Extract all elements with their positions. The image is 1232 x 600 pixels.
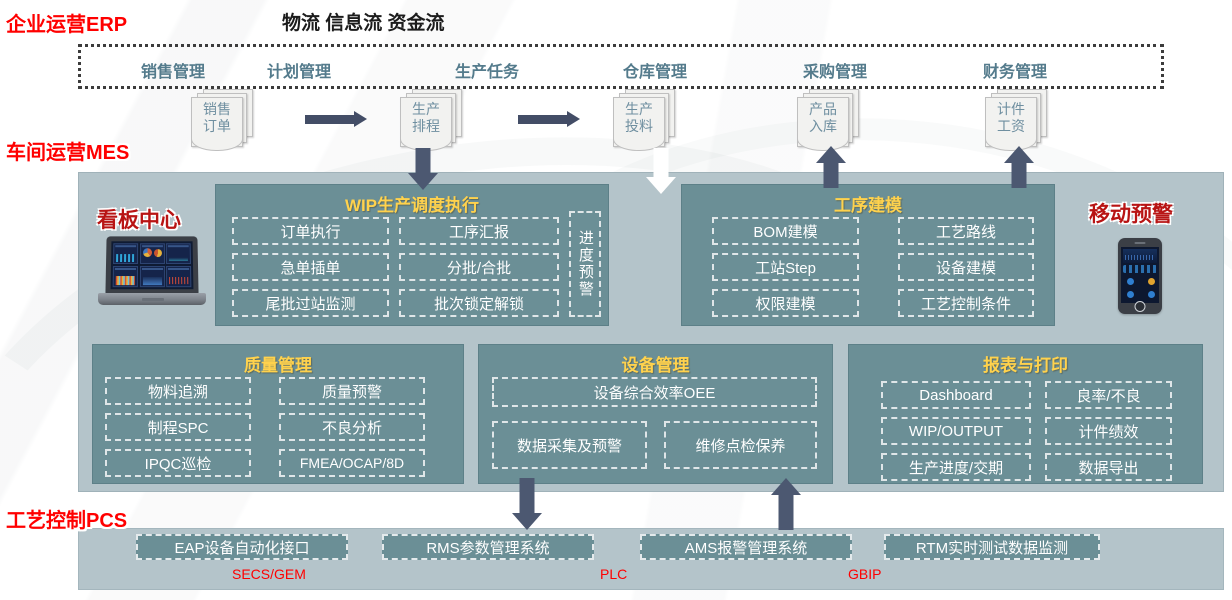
chip-wip-output[interactable]: WIP/OUTPUT	[881, 417, 1031, 445]
panel-reports-and-printing: 报表与打印 Dashboard WIP/OUTPUT 生产进度/交期 良率/不良…	[848, 344, 1203, 484]
pcs-system-eap[interactable]: EAP设备自动化接口	[136, 534, 348, 560]
doc-label: 产品入库	[797, 101, 849, 135]
document-production-schedule[interactable]: 生产排程	[400, 89, 462, 151]
chip-process-spc[interactable]: 制程SPC	[105, 413, 251, 441]
connector-mes-to-wage	[1004, 146, 1034, 188]
chip-piece-rate-performance[interactable]: 计件绩效	[1045, 417, 1172, 445]
panel-title: WIP生产调度执行	[216, 191, 608, 216]
document-material-issue[interactable]: 生产投料	[613, 89, 675, 151]
arrow-head	[816, 146, 846, 163]
chip-dashboard[interactable]: Dashboard	[881, 381, 1031, 409]
flow-arrow-sales-to-plan	[305, 113, 367, 125]
chip-oee[interactable]: 设备综合效率OEE	[492, 377, 817, 407]
kanban-center-caption: 看板中心	[97, 204, 181, 234]
doc-label: 销售订单	[191, 101, 243, 135]
dashboard-widget-pies	[140, 243, 165, 264]
dashboard-widget-trend	[166, 243, 191, 264]
section-label-erp: 企业运营ERP	[6, 8, 127, 37]
panel-quality-management: 质量管理 物料追溯 制程SPC IPQC巡检 质量预警 不良分析 FMEA/OC…	[92, 344, 464, 484]
panel-equipment-management: 设备管理 设备综合效率OEE 数据采集及预警 维修点检保养	[478, 344, 833, 484]
arrow-shaft	[779, 495, 794, 530]
phone-widget-header	[1123, 249, 1157, 263]
chip-fmea-ocap-8d[interactable]: FMEA/OCAP/8D	[279, 449, 425, 477]
panel-title: 工序建模	[682, 191, 1054, 216]
pcs-system-rtm[interactable]: RTM实时测试数据监测	[884, 534, 1100, 560]
arrow-head	[512, 513, 542, 530]
arrow-head	[1004, 146, 1034, 163]
doc-curl	[191, 139, 243, 151]
laptop-dashboard-illustration	[98, 236, 206, 310]
doc-label: 生产投料	[613, 101, 665, 135]
chip-tail-lot-monitor[interactable]: 尾批过站监测	[232, 289, 389, 317]
chip-production-progress-delivery[interactable]: 生产进度/交期	[881, 453, 1031, 481]
erp-module-sales[interactable]: 销售管理	[118, 58, 228, 82]
panel-title: 质量管理	[93, 351, 463, 376]
phone-body	[1118, 238, 1162, 314]
erp-module-purchasing[interactable]: 采购管理	[780, 58, 890, 82]
pcs-protocol-secs-gem: SECS/GEM	[232, 566, 306, 582]
arrow-head	[567, 111, 580, 127]
section-label-mes: 车间运营MES	[6, 136, 129, 165]
arrow-shaft	[518, 115, 568, 124]
chip-order-execution[interactable]: 订单执行	[232, 217, 389, 245]
pcs-system-ams[interactable]: AMS报警管理系统	[640, 534, 852, 560]
phone-speaker	[1135, 242, 1146, 244]
chip-equipment-modeling[interactable]: 设备建模	[898, 253, 1034, 281]
flow-arrow-plan-to-task	[518, 113, 580, 125]
document-product-receipt[interactable]: 产品入库	[797, 89, 859, 151]
arrow-shaft	[824, 163, 839, 188]
erp-mes-pcs-architecture-diagram: 企业运营ERP 车间运营MES 工艺控制PCS 物流 信息流 资金流 销售管理 …	[0, 0, 1232, 600]
panel-process-modeling: 工序建模 BOM建模 工站Step 权限建模 工艺路线 设备建模 工艺控制条件	[681, 184, 1055, 326]
erp-module-warehouse[interactable]: 仓库管理	[600, 58, 710, 82]
mobile-alert-caption: 移动预警	[1089, 198, 1173, 228]
arrow-head	[354, 111, 367, 127]
connector-material-to-mes	[646, 148, 676, 194]
chip-quality-alert[interactable]: 质量预警	[279, 377, 425, 405]
chip-process-control-conditions[interactable]: 工艺控制条件	[898, 289, 1034, 317]
arrow-shaft	[520, 478, 535, 513]
chip-progress-alert[interactable]: 进度预警	[569, 211, 601, 317]
connector-pcs-to-mes	[771, 478, 801, 530]
chip-permission-modeling[interactable]: 权限建模	[712, 289, 859, 317]
dashboard-widget-colorbars	[113, 266, 138, 287]
doc-label: 生产排程	[400, 101, 452, 135]
smartphone-illustration	[1118, 238, 1162, 314]
arrow-head	[771, 478, 801, 495]
chip-data-export[interactable]: 数据导出	[1045, 453, 1172, 481]
flow-title: 物流 信息流 资金流	[282, 8, 445, 35]
chip-data-collection-alert[interactable]: 数据采集及预警	[492, 421, 647, 469]
dashboard-widget-area	[139, 266, 164, 287]
document-sales-order[interactable]: 销售订单	[191, 89, 253, 151]
chip-defect-analysis[interactable]: 不良分析	[279, 413, 425, 441]
chip-operation-report[interactable]: 工序汇报	[399, 217, 559, 245]
chip-maintenance-inspection[interactable]: 维修点检保养	[664, 421, 817, 469]
erp-module-finance[interactable]: 财务管理	[960, 58, 1070, 82]
pcs-protocol-plc: PLC	[600, 566, 627, 582]
chip-bom-modeling[interactable]: BOM建模	[712, 217, 859, 245]
chip-process-route[interactable]: 工艺路线	[898, 217, 1034, 245]
chip-workstation-step[interactable]: 工站Step	[712, 253, 859, 281]
chip-lot-lock-unlock[interactable]: 批次锁定解锁	[399, 289, 559, 317]
doc-label: 计件工资	[985, 101, 1037, 135]
dashboard-widget-gauges	[113, 243, 138, 264]
arrow-shaft	[416, 148, 431, 173]
laptop-trackpad	[142, 298, 164, 301]
pcs-system-rms[interactable]: RMS参数管理系统	[382, 534, 594, 560]
section-label-pcs: 工艺控制PCS	[6, 504, 127, 533]
erp-module-production-task[interactable]: 生产任务	[432, 58, 542, 82]
laptop-lid	[105, 236, 198, 294]
dashboard-widget-alerts	[166, 266, 191, 287]
panel-title: 报表与打印	[849, 351, 1202, 376]
document-piece-rate-wage[interactable]: 计件工资	[985, 89, 1047, 151]
phone-widget-dots	[1124, 276, 1156, 301]
connector-mes-to-pcs	[512, 478, 542, 530]
chip-ipqc-inspection[interactable]: IPQC巡检	[105, 449, 251, 477]
arrow-shaft	[654, 148, 669, 177]
phone-screen	[1121, 247, 1159, 303]
arrow-head	[408, 173, 438, 190]
pcs-protocol-gbip: GBIP	[848, 566, 881, 582]
chip-rush-order-insert[interactable]: 急单插单	[232, 253, 389, 281]
connector-schedule-to-wip	[408, 148, 438, 190]
laptop-screen	[111, 241, 194, 289]
arrow-shaft	[305, 115, 355, 124]
chip-split-merge-lot[interactable]: 分批/合批	[399, 253, 559, 281]
phone-widget-gauges	[1123, 265, 1157, 273]
arrow-head	[646, 177, 676, 194]
phone-home-button[interactable]	[1135, 301, 1146, 312]
chip-yield-defect[interactable]: 良率/不良	[1045, 381, 1172, 409]
erp-module-planning[interactable]: 计划管理	[244, 58, 354, 82]
panel-wip-production-scheduling: WIP生产调度执行 订单执行 急单插单 尾批过站监测 工序汇报 分批/合批 批次…	[215, 184, 609, 326]
arrow-shaft	[1012, 163, 1027, 188]
panel-title: 设备管理	[479, 351, 832, 376]
chip-material-traceability[interactable]: 物料追溯	[105, 377, 251, 405]
connector-mes-to-product-receipt	[816, 146, 846, 188]
